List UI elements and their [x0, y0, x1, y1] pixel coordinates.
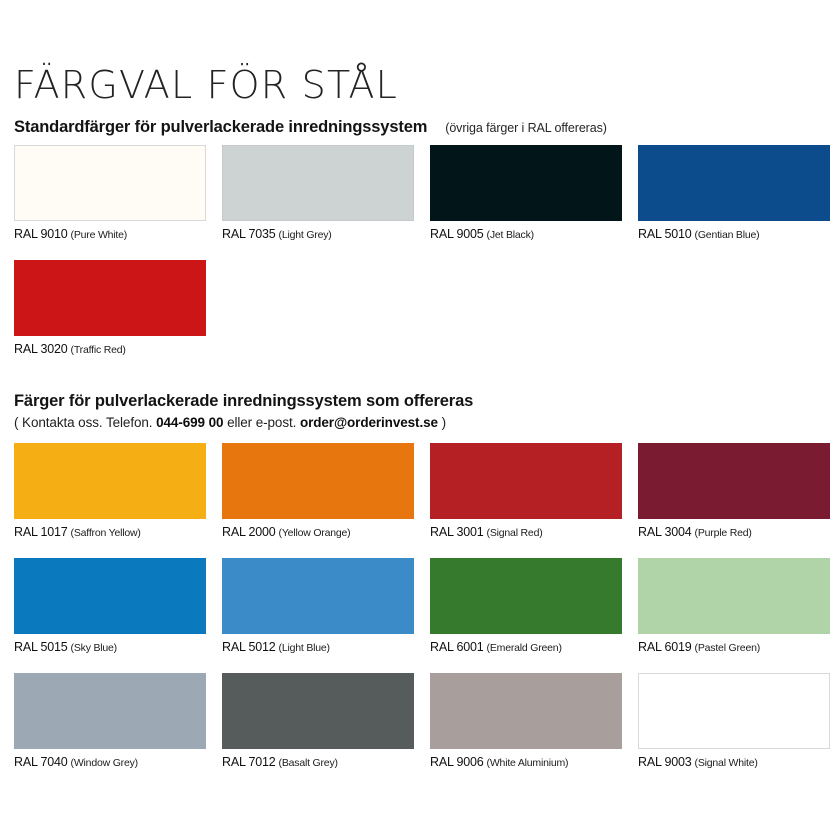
swatch-row: RAL 5015(Sky Blue) RAL 5012(Light Blue) …	[14, 558, 840, 673]
contact-phone[interactable]: 044-699 00	[156, 415, 223, 430]
swatch-name: (Window Grey)	[71, 757, 138, 769]
swatch-cell-ral-9003[interactable]: RAL 9003(Signal White)	[638, 673, 830, 770]
swatch-name: (Jet Black)	[487, 229, 534, 241]
swatch-label: RAL 5010(Gentian Blue)	[638, 227, 830, 242]
swatch-name: (Purple Red)	[695, 527, 752, 539]
swatch-code: RAL 1017	[14, 525, 68, 539]
swatch-name: (Yellow Orange)	[279, 527, 351, 539]
swatch-row: RAL 3020(Traffic Red)	[14, 260, 840, 375]
section-standard-heading: Standardfärger för pulverlackerade inred…	[14, 118, 607, 137]
color-chip[interactable]	[638, 558, 830, 634]
swatch-label: RAL 2000(Yellow Orange)	[222, 525, 414, 540]
swatch-name: (Basalt Grey)	[279, 757, 338, 769]
swatch-cell-ral-9005[interactable]: RAL 9005(Jet Black)	[430, 145, 622, 242]
swatch-cell-ral-7035[interactable]: RAL 7035(Light Grey)	[222, 145, 414, 242]
color-chip[interactable]	[222, 673, 414, 749]
section-offered-title: Färger för pulverlackerade inredningssys…	[14, 392, 473, 410]
swatch-cell-ral-3004[interactable]: RAL 3004(Purple Red)	[638, 443, 830, 540]
swatch-cell-ral-6019[interactable]: RAL 6019(Pastel Green)	[638, 558, 830, 655]
color-chip[interactable]	[638, 443, 830, 519]
swatch-label: RAL 3004(Purple Red)	[638, 525, 830, 540]
swatch-row: RAL 7040(Window Grey) RAL 7012(Basalt Gr…	[14, 673, 840, 788]
swatch-code: RAL 9006	[430, 755, 484, 769]
color-chip[interactable]	[430, 558, 622, 634]
color-chip[interactable]	[222, 558, 414, 634]
color-chip[interactable]	[14, 443, 206, 519]
swatch-row: RAL 9010(Pure White) RAL 7035(Light Grey…	[14, 145, 840, 260]
swatch-label: RAL 5012(Light Blue)	[222, 640, 414, 655]
swatch-label: RAL 3020(Traffic Red)	[14, 342, 206, 357]
swatch-name: (White Aluminium)	[487, 757, 569, 769]
swatch-cell-ral-7040[interactable]: RAL 7040(Window Grey)	[14, 673, 206, 770]
color-chip[interactable]	[638, 673, 830, 749]
color-chip[interactable]	[430, 673, 622, 749]
color-chip[interactable]	[14, 673, 206, 749]
section-standard-title: Standardfärger för pulverlackerade inred…	[14, 118, 427, 136]
section-standard-note: (övriga färger i RAL offereras)	[445, 121, 607, 135]
swatch-name: (Pastel Green)	[695, 642, 760, 654]
contact-middle: eller e-post.	[227, 415, 296, 430]
swatch-cell-ral-5015[interactable]: RAL 5015(Sky Blue)	[14, 558, 206, 655]
swatch-code: RAL 5012	[222, 640, 276, 654]
swatch-label: RAL 7012(Basalt Grey)	[222, 755, 414, 770]
offered-swatch-grid: RAL 1017(Saffron Yellow) RAL 2000(Yellow…	[14, 443, 840, 788]
swatch-cell-ral-6001[interactable]: RAL 6001(Emerald Green)	[430, 558, 622, 655]
swatch-code: RAL 3004	[638, 525, 692, 539]
swatch-label: RAL 9006(White Aluminium)	[430, 755, 622, 770]
swatch-cell-ral-5012[interactable]: RAL 5012(Light Blue)	[222, 558, 414, 655]
swatch-name: (Signal Red)	[487, 527, 543, 539]
swatch-code: RAL 6019	[638, 640, 692, 654]
contact-suffix: )	[442, 415, 446, 430]
swatch-label: RAL 3001(Signal Red)	[430, 525, 622, 540]
swatch-label: RAL 9003(Signal White)	[638, 755, 830, 770]
swatch-code: RAL 3001	[430, 525, 484, 539]
swatch-cell-ral-3020[interactable]: RAL 3020(Traffic Red)	[14, 260, 206, 357]
swatch-cell-ral-9006[interactable]: RAL 9006(White Aluminium)	[430, 673, 622, 770]
swatch-name: (Sky Blue)	[71, 642, 117, 654]
page-title: FÄRGVAL FÖR STÅL	[14, 63, 398, 107]
color-chip[interactable]	[222, 145, 414, 221]
contact-line: ( Kontakta oss. Telefon. 044-699 00 elle…	[14, 414, 446, 431]
swatch-label: RAL 6019(Pastel Green)	[638, 640, 830, 655]
color-chip[interactable]	[14, 558, 206, 634]
color-chip[interactable]	[14, 145, 206, 221]
swatch-name: (Pure White)	[71, 229, 128, 241]
color-chip[interactable]	[430, 443, 622, 519]
swatch-code: RAL 2000	[222, 525, 276, 539]
swatch-label: RAL 1017(Saffron Yellow)	[14, 525, 206, 540]
swatch-code: RAL 7040	[14, 755, 68, 769]
swatch-code: RAL 3020	[14, 342, 68, 356]
color-chip[interactable]	[638, 145, 830, 221]
swatch-code: RAL 7012	[222, 755, 276, 769]
swatch-cell-ral-5010[interactable]: RAL 5010(Gentian Blue)	[638, 145, 830, 242]
swatch-label: RAL 7040(Window Grey)	[14, 755, 206, 770]
swatch-code: RAL 5015	[14, 640, 68, 654]
contact-prefix: ( Kontakta oss. Telefon.	[14, 415, 152, 430]
swatch-name: (Light Grey)	[279, 229, 332, 241]
swatch-code: RAL 9005	[430, 227, 484, 241]
contact-email[interactable]: order@orderinvest.se	[300, 415, 438, 430]
swatch-label: RAL 5015(Sky Blue)	[14, 640, 206, 655]
swatch-cell-ral-7012[interactable]: RAL 7012(Basalt Grey)	[222, 673, 414, 770]
swatch-row: RAL 1017(Saffron Yellow) RAL 2000(Yellow…	[14, 443, 840, 558]
swatch-label: RAL 9005(Jet Black)	[430, 227, 622, 242]
swatch-code: RAL 9003	[638, 755, 692, 769]
section-offered-heading: Färger för pulverlackerade inredningssys…	[14, 392, 473, 411]
color-chart-page: FÄRGVAL FÖR STÅL Standardfärger för pulv…	[0, 0, 840, 840]
swatch-name: (Traffic Red)	[71, 344, 126, 356]
color-chip[interactable]	[430, 145, 622, 221]
standard-swatch-grid: RAL 9010(Pure White) RAL 7035(Light Grey…	[14, 145, 840, 375]
swatch-label: RAL 7035(Light Grey)	[222, 227, 414, 242]
swatch-name: (Emerald Green)	[487, 642, 562, 654]
swatch-code: RAL 6001	[430, 640, 484, 654]
swatch-name: (Signal White)	[695, 757, 758, 769]
swatch-label: RAL 6001(Emerald Green)	[430, 640, 622, 655]
swatch-cell-ral-9010[interactable]: RAL 9010(Pure White)	[14, 145, 206, 242]
swatch-name: (Light Blue)	[279, 642, 330, 654]
swatch-code: RAL 7035	[222, 227, 276, 241]
swatch-cell-ral-2000[interactable]: RAL 2000(Yellow Orange)	[222, 443, 414, 540]
swatch-code: RAL 5010	[638, 227, 692, 241]
swatch-cell-ral-1017[interactable]: RAL 1017(Saffron Yellow)	[14, 443, 206, 540]
color-chip[interactable]	[222, 443, 414, 519]
swatch-label: RAL 9010(Pure White)	[14, 227, 206, 242]
swatch-name: (Gentian Blue)	[695, 229, 760, 241]
color-chip[interactable]	[14, 260, 206, 336]
swatch-name: (Saffron Yellow)	[71, 527, 141, 539]
swatch-cell-ral-3001[interactable]: RAL 3001(Signal Red)	[430, 443, 622, 540]
swatch-code: RAL 9010	[14, 227, 68, 241]
